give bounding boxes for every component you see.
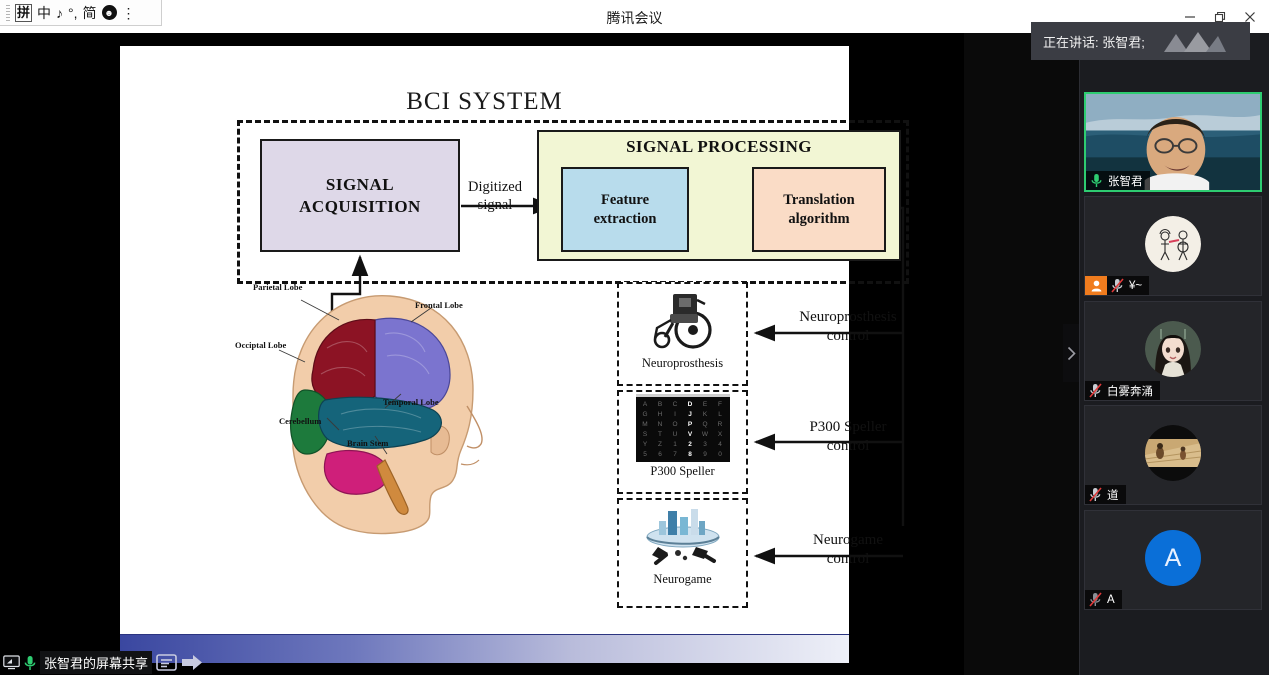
participant-rail[interactable]: 张智君 bbox=[1079, 33, 1269, 675]
brain-label-brainstem: Brain Stem bbox=[347, 438, 388, 448]
ctrl-neuro-line1: Neuroprosthesis bbox=[768, 308, 928, 327]
p300-cell: I bbox=[668, 409, 683, 419]
avatar-initial: A bbox=[1165, 544, 1182, 573]
active-speaker-banner: 正在讲话: 张智君; bbox=[1031, 22, 1250, 60]
ime-pinyin-button[interactable]: 拼 bbox=[15, 4, 32, 22]
feature-line1: Feature bbox=[594, 191, 657, 210]
p300-cell: O bbox=[668, 419, 683, 429]
host-badge-icon bbox=[1085, 276, 1107, 295]
participant-name: 白雾奔涌 bbox=[1106, 383, 1160, 399]
panel-icon[interactable] bbox=[156, 653, 177, 672]
p300-cell: Z bbox=[653, 440, 668, 450]
avatar bbox=[1145, 425, 1201, 481]
output-p300-speller: A B C D E F G H I J K L M bbox=[617, 390, 748, 494]
neurogame-icon bbox=[619, 500, 746, 572]
p300-cell: R bbox=[713, 419, 728, 429]
p300-cell: N bbox=[653, 419, 668, 429]
p300-cell: 8 bbox=[683, 450, 698, 460]
p300-cell: Y bbox=[638, 440, 653, 450]
ctrl-neurogame-line1: Neurogame bbox=[768, 531, 928, 550]
arrow-right-icon[interactable] bbox=[181, 653, 203, 672]
digitized-line1: Digitized bbox=[455, 178, 535, 196]
brain-illustration: Parietal Lobe Frontal Lobe Occiptal Lobe… bbox=[235, 278, 500, 558]
microphone-icon bbox=[1086, 173, 1107, 188]
output-neurogame: Neurogame bbox=[617, 498, 748, 608]
output-caption-p300: P300 Speller bbox=[619, 464, 746, 481]
brain-label-frontal: Frontal Lobe bbox=[415, 300, 463, 310]
translation-algorithm-box: Translation algorithm bbox=[752, 167, 886, 252]
audio-wave-icon bbox=[1164, 32, 1226, 52]
p300-cell: M bbox=[638, 419, 653, 429]
p300-cell: P bbox=[683, 419, 698, 429]
p300-cell: W bbox=[698, 430, 713, 440]
p300-cell: Q bbox=[698, 419, 713, 429]
brain-label-occipital: Occiptal Lobe bbox=[235, 340, 286, 350]
avatar bbox=[1145, 216, 1201, 272]
ctrl-neuro-line2: control bbox=[768, 327, 928, 346]
avatar bbox=[1145, 321, 1201, 377]
microphone-muted-icon bbox=[1107, 278, 1128, 293]
p300-grid-icon: A B C D E F G H I J K L M bbox=[619, 392, 746, 464]
remote-taskbar bbox=[120, 634, 849, 663]
feature-extraction-box: Feature extraction bbox=[561, 167, 689, 252]
ime-toolbar[interactable]: 拼 中 ♪ °, 简 ☻ ⋮ bbox=[0, 0, 162, 26]
microphone-icon[interactable] bbox=[24, 655, 36, 671]
microphone-muted-icon bbox=[1085, 592, 1106, 607]
tile-footer: 白雾奔涌 bbox=[1085, 381, 1160, 400]
signal-processing-title: SIGNAL PROCESSING bbox=[539, 137, 899, 157]
participant-tile[interactable]: 白雾奔涌 bbox=[1084, 301, 1262, 401]
brain-label-cerebellum: Cerebellum bbox=[279, 416, 321, 426]
p300-cell: T bbox=[653, 430, 668, 440]
shared-screen-content: BCI SYSTEM bbox=[120, 46, 849, 663]
signal-acquisition-line2: ACQUISITION bbox=[299, 196, 421, 217]
ctrl-p300-line1: P300 Speller bbox=[768, 418, 928, 437]
p300-cell: D bbox=[683, 399, 698, 409]
participant-name: 道 bbox=[1106, 487, 1126, 503]
ime-tone-icon[interactable]: ♪ bbox=[56, 6, 63, 20]
ime-emoji-icon[interactable]: ☻ bbox=[102, 5, 117, 20]
output-caption-neuroprosthesis: Neuroprosthesis bbox=[619, 356, 746, 373]
tile-footer: ¥~ bbox=[1085, 276, 1149, 295]
p300-cell: E bbox=[698, 399, 713, 409]
p300-cell: 5 bbox=[638, 450, 653, 460]
p300-cell: L bbox=[713, 409, 728, 419]
screen-share-label: 张智君的屏幕共享 bbox=[40, 651, 152, 674]
signal-acquisition-line1: SIGNAL bbox=[299, 174, 421, 195]
rail-collapse-chevron-right-icon[interactable] bbox=[1063, 324, 1079, 382]
active-speaker-label: 正在讲话: 张智君; bbox=[1043, 32, 1145, 51]
p300-cell: K bbox=[698, 409, 713, 419]
p300-cell: 6 bbox=[653, 450, 668, 460]
translation-line2: algorithm bbox=[783, 210, 854, 229]
microphone-muted-icon bbox=[1085, 487, 1106, 502]
participant-name: ¥~ bbox=[1128, 280, 1149, 292]
p300-cell: 3 bbox=[698, 440, 713, 450]
p300-cell: 4 bbox=[713, 440, 728, 450]
screen-share-status-bar: 张智君的屏幕共享 bbox=[0, 650, 203, 675]
ctrl-p300-line2: control bbox=[768, 437, 928, 456]
participant-tile[interactable]: ¥~ bbox=[1084, 196, 1262, 296]
participant-tile[interactable]: 张智君 bbox=[1084, 92, 1262, 192]
p300-cell: F bbox=[713, 399, 728, 409]
control-label-neurogame: Neurogame control bbox=[768, 531, 928, 569]
p300-cell: U bbox=[668, 430, 683, 440]
participant-tile[interactable]: 道 bbox=[1084, 405, 1262, 505]
tile-footer: 张智君 bbox=[1086, 171, 1150, 190]
p300-cell: X bbox=[713, 430, 728, 440]
p300-cell: S bbox=[638, 430, 653, 440]
shared-screen-viewport[interactable]: BCI SYSTEM bbox=[0, 33, 964, 675]
control-label-p300: P300 Speller control bbox=[768, 418, 928, 456]
ime-punctuation-button[interactable]: °, bbox=[68, 6, 78, 20]
feature-line2: extraction bbox=[594, 210, 657, 229]
control-label-neuroprosthesis: Neuroprosthesis control bbox=[768, 308, 928, 346]
p300-cell: H bbox=[653, 409, 668, 419]
brain-svg bbox=[235, 278, 500, 558]
bci-system-diagram: BCI SYSTEM bbox=[120, 46, 849, 634]
p300-cell: 9 bbox=[698, 450, 713, 460]
p300-cell: 0 bbox=[713, 450, 728, 460]
output-caption-neurogame: Neurogame bbox=[619, 572, 746, 589]
tile-footer: A bbox=[1085, 590, 1122, 609]
p300-cell: C bbox=[668, 399, 683, 409]
p300-cell: 1 bbox=[668, 440, 683, 450]
p300-cell: G bbox=[638, 409, 653, 419]
p300-matrix: A B C D E F G H I J K L M bbox=[636, 394, 730, 462]
p300-cell: J bbox=[683, 409, 698, 419]
ime-language-button[interactable]: 中 bbox=[37, 6, 51, 20]
screen-share-icon[interactable] bbox=[3, 655, 20, 670]
p300-cell: 2 bbox=[683, 440, 698, 450]
signal-processing-box: SIGNAL PROCESSING Feature extraction Tra… bbox=[537, 130, 901, 261]
p300-cell: B bbox=[653, 399, 668, 409]
p300-cell: V bbox=[683, 430, 698, 440]
microphone-muted-icon bbox=[1085, 383, 1106, 398]
digitized-line2: signal bbox=[455, 196, 535, 214]
translation-line1: Translation bbox=[783, 191, 854, 210]
p300-cell: 7 bbox=[668, 450, 683, 460]
digitized-signal-label: Digitized signal bbox=[455, 178, 535, 214]
ime-menu-icon[interactable]: ⋮ bbox=[122, 6, 136, 20]
brain-label-parietal: Parietal Lobe bbox=[253, 282, 302, 292]
ime-script-button[interactable]: 简 bbox=[83, 6, 97, 20]
tencent-meeting-window: 腾讯会议 拼 中 ♪ °, 简 ☻ bbox=[0, 0, 1269, 675]
output-neuroprosthesis: Neuroprosthesis bbox=[617, 282, 748, 386]
ctrl-neurogame-line2: control bbox=[768, 550, 928, 569]
participant-tile[interactable]: A A bbox=[1084, 510, 1262, 610]
signal-acquisition-box: SIGNAL ACQUISITION bbox=[260, 139, 460, 252]
avatar: A bbox=[1145, 530, 1201, 586]
brain-label-temporal: Temporal Lobe bbox=[383, 397, 439, 407]
participant-name: A bbox=[1106, 594, 1122, 606]
tile-footer: 道 bbox=[1085, 485, 1126, 504]
ime-drag-handle[interactable] bbox=[6, 5, 10, 21]
wheelchair-icon bbox=[619, 284, 746, 356]
p300-cell: A bbox=[638, 399, 653, 409]
participant-name: 张智君 bbox=[1107, 173, 1150, 189]
